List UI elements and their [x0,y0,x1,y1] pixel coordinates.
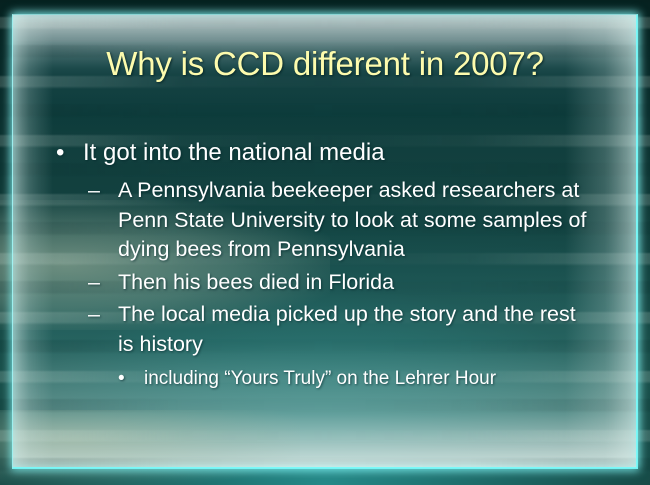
round-bullet-icon: • [56,136,83,170]
bullet-text: A Pennsylvania beekeeper asked researche… [118,176,588,265]
dash-bullet-icon: – [88,268,118,298]
bullet-item-level2: – A Pennsylvania beekeeper asked researc… [0,176,632,265]
bullet-item-level2: – Then his bees died in Florida [0,268,632,298]
bullet-item-level2: – The local media picked up the story an… [0,300,632,359]
slide-body-list: • It got into the national media – A Pen… [0,136,632,392]
slide-content: Why is CCD different in 2007? • It got i… [0,0,650,485]
bullet-text: It got into the national media [83,136,385,170]
dash-bullet-icon: – [88,176,118,206]
bullet-item-level3: • including “Yours Truly” on the Lehrer … [0,365,632,392]
dash-bullet-icon: – [88,300,118,330]
bullet-text: including “Yours Truly” on the Lehrer Ho… [144,365,496,392]
round-bullet-icon: • [118,365,144,392]
bullet-text: Then his bees died in Florida [118,268,394,298]
bullet-item-level1: • It got into the national media [0,136,632,170]
presentation-slide: Why is CCD different in 2007? • It got i… [0,0,650,485]
bullet-text: The local media picked up the story and … [118,300,588,359]
slide-title: Why is CCD different in 2007? [0,44,650,84]
